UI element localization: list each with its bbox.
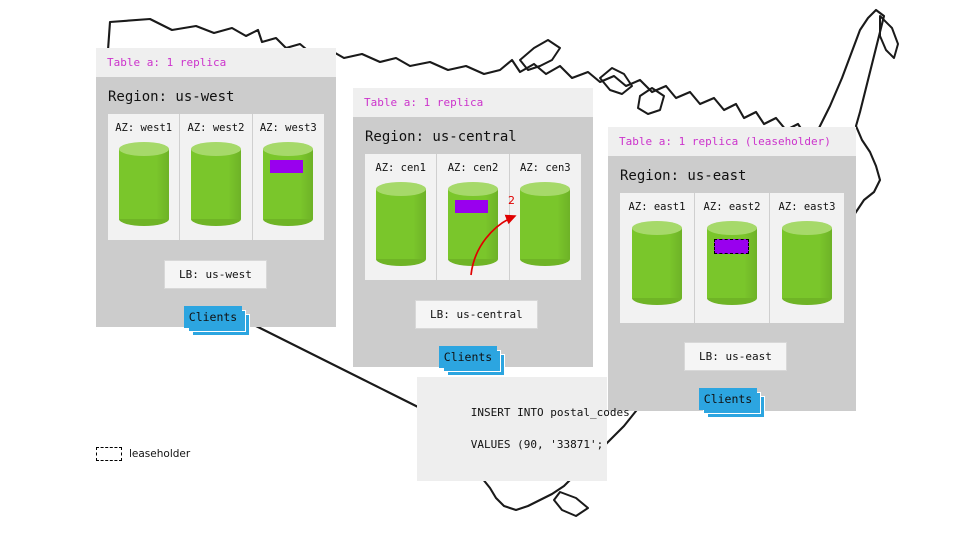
cylinder-shading xyxy=(557,189,570,259)
cylinder-top xyxy=(520,182,570,196)
az-label-west2: AZ: west2 xyxy=(188,114,245,142)
az-row-us-east: AZ: east1 AZ: east2 xyxy=(620,193,844,323)
arrow-path xyxy=(471,216,515,275)
az-label-cen2: AZ: cen2 xyxy=(448,154,499,182)
cylinder-shading xyxy=(156,149,169,219)
node-cylinder-east2[interactable] xyxy=(707,221,757,305)
legend: leaseholder xyxy=(96,447,190,461)
region-title-us-west: Region: us-west xyxy=(96,77,336,114)
region-header-us-east: Table a: 1 replica (leaseholder) xyxy=(608,127,856,156)
clients-stack-us-west[interactable]: Clients xyxy=(184,306,250,336)
az-row-us-west: AZ: west1 AZ: west2 xyxy=(108,114,324,240)
node-cylinder-east1[interactable] xyxy=(632,221,682,305)
az-cell-west2[interactable]: AZ: west2 xyxy=(180,114,252,240)
region-body-us-west: Region: us-west AZ: west1 AZ: west2 xyxy=(96,77,336,327)
cylinder-shading xyxy=(669,228,682,298)
arrow-label-2: 2 xyxy=(508,194,515,207)
sql-line-2: VALUES (90, '33871'; xyxy=(471,438,603,451)
clients-stack-us-east[interactable]: Clients xyxy=(699,388,765,418)
region-title-us-central: Region: us-central xyxy=(353,117,593,154)
az-cell-east1[interactable]: AZ: east1 xyxy=(620,193,695,323)
clients-stack-us-central[interactable]: Clients xyxy=(439,346,505,376)
node-cylinder-west3[interactable] xyxy=(263,142,313,226)
cylinder-top xyxy=(119,142,169,156)
region-panel-us-east: Table a: 1 replica (leaseholder) Region:… xyxy=(608,127,856,411)
replica-badge-west3[interactable] xyxy=(270,160,303,173)
cylinder-top xyxy=(448,182,498,196)
load-balancer-us-east[interactable]: LB: us-east xyxy=(684,342,787,371)
replication-arrow-central xyxy=(455,195,535,285)
cylinder-top xyxy=(632,221,682,235)
map-path-lakes xyxy=(520,40,560,70)
node-cylinder-east3[interactable] xyxy=(782,221,832,305)
node-cylinder-cen1[interactable] xyxy=(376,182,426,266)
node-cylinder-west2[interactable] xyxy=(191,142,241,226)
az-label-cen1: AZ: cen1 xyxy=(375,154,426,182)
region-title-us-east: Region: us-east xyxy=(608,156,856,193)
az-label-east3: AZ: east3 xyxy=(779,193,836,221)
region-body-us-east: Region: us-east AZ: east1 AZ: east2 xyxy=(608,156,856,411)
az-label-west3: AZ: west3 xyxy=(260,114,317,142)
az-label-east2: AZ: east2 xyxy=(704,193,761,221)
load-balancer-us-central[interactable]: LB: us-central xyxy=(415,300,538,329)
clients-button-us-central[interactable]: Clients xyxy=(439,346,497,368)
sql-statement-note: INSERT INTO postal_codes VALUES (90, '33… xyxy=(417,377,607,481)
cylinder-top xyxy=(263,142,313,156)
az-label-west1: AZ: west1 xyxy=(115,114,172,142)
az-label-east1: AZ: east1 xyxy=(629,193,686,221)
node-cylinder-west1[interactable] xyxy=(119,142,169,226)
leaseholder-dashed-swatch-icon xyxy=(96,447,122,461)
az-cell-east3[interactable]: AZ: east3 xyxy=(770,193,844,323)
clients-button-us-east[interactable]: Clients xyxy=(699,388,757,410)
region-header-us-west: Table a: 1 replica xyxy=(96,48,336,77)
cylinder-shading xyxy=(413,189,426,259)
cylinder-shading xyxy=(228,149,241,219)
clients-button-us-west[interactable]: Clients xyxy=(184,306,242,328)
map-path-florida xyxy=(554,492,588,516)
diagram-canvas: Table a: 1 replica Region: us-west AZ: w… xyxy=(0,0,960,540)
region-panel-us-west: Table a: 1 replica Region: us-west AZ: w… xyxy=(96,48,336,327)
az-cell-west3[interactable]: AZ: west3 xyxy=(253,114,324,240)
sql-line-1: INSERT INTO postal_codes xyxy=(471,406,630,419)
load-balancer-us-west[interactable]: LB: us-west xyxy=(164,260,267,289)
az-cell-east2[interactable]: AZ: east2 xyxy=(695,193,770,323)
cylinder-shading xyxy=(819,228,832,298)
replica-badge-east2-leaseholder[interactable] xyxy=(714,239,749,254)
az-cell-cen1[interactable]: AZ: cen1 xyxy=(365,154,437,280)
cylinder-top xyxy=(376,182,426,196)
cylinder-top xyxy=(782,221,832,235)
cylinder-top xyxy=(707,221,757,235)
az-cell-west1[interactable]: AZ: west1 xyxy=(108,114,180,240)
region-header-us-central: Table a: 1 replica xyxy=(353,88,593,117)
az-label-cen3: AZ: cen3 xyxy=(520,154,571,182)
legend-label-leaseholder: leaseholder xyxy=(129,448,190,460)
cylinder-top xyxy=(191,142,241,156)
